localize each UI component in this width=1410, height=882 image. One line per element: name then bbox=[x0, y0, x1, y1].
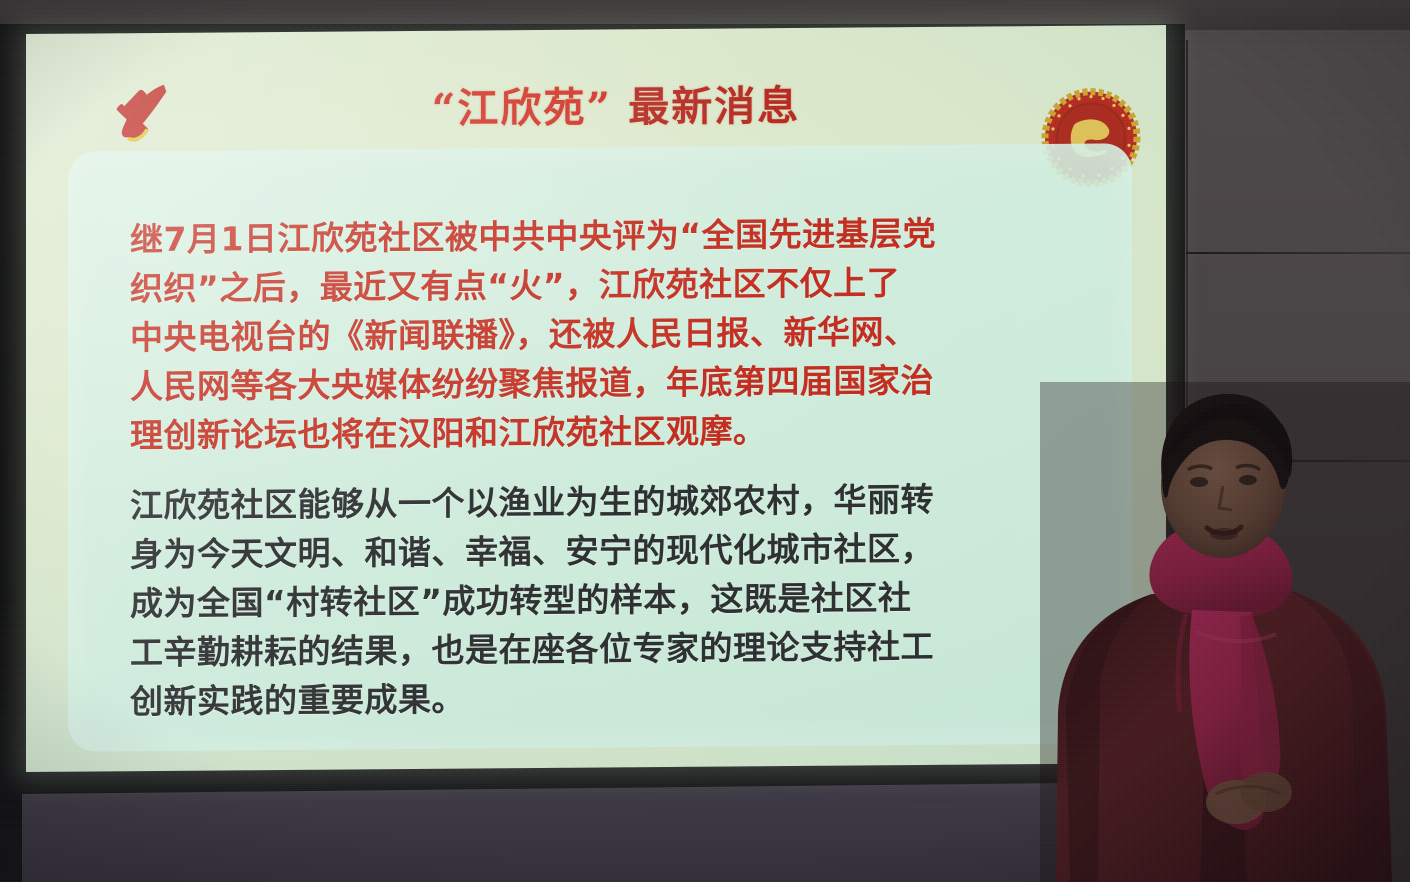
photo-scene: “江欣苑” 最新消息 bbox=[0, 0, 1410, 882]
paragraph-red-line: 中央电视台的《新闻联播》，还被人民日报、新华网、 bbox=[130, 306, 1080, 362]
slide-content-panel: 继7月1日江欣苑社区被中共中央评为“全国先进基层党 织织”之后，最近又有点“火”… bbox=[68, 143, 1132, 751]
paragraph-red-line: 理创新论坛也将在汉阳和江欣苑社区观摩。 bbox=[130, 404, 1080, 460]
paragraph-black-line: 工辛勤耕耘的结果，也是在座各位专家的理论支持社工 bbox=[130, 621, 1080, 677]
slide-title: “江欣苑” 最新消息 bbox=[226, 70, 1006, 136]
paragraph-black: 江欣苑社区能够从一个以渔业为生的城郊农村，华丽转 身为今天文明、和谐、幸福、安宁… bbox=[130, 474, 1080, 726]
presenter-figure bbox=[1040, 382, 1410, 882]
hammer-and-sickle-icon bbox=[108, 77, 186, 152]
wall-seam-horizontal bbox=[1186, 252, 1410, 254]
paragraph-black-line: 身为今天文明、和谐、幸福、安宁的现代化城市社区， bbox=[130, 523, 1080, 579]
paragraph-black-line: 创新实践的重要成果。 bbox=[130, 670, 1080, 726]
paragraph-red-line: 继7月1日江欣苑社区被中共中央评为“全国先进基层党 bbox=[130, 208, 1080, 264]
slide-title-plain: 最新消息 bbox=[628, 82, 800, 131]
paragraph-black-line: 成为全国“村转社区”成功转型的样本，这既是社区社 bbox=[130, 572, 1080, 628]
paragraph-red: 继7月1日江欣苑社区被中共中央评为“全国先进基层党 织织”之后，最近又有点“火”… bbox=[130, 208, 1080, 460]
paragraph-black-line: 江欣苑社区能够从一个以渔业为生的城郊农村，华丽转 bbox=[130, 474, 1080, 530]
presentation-slide: “江欣苑” 最新消息 bbox=[26, 25, 1166, 772]
slide-title-quoted: “江欣苑” bbox=[432, 83, 612, 132]
paragraph-red-line: 织织”之后，最近又有点“火”，江欣苑社区不仅上了 bbox=[130, 257, 1080, 313]
paragraph-red-line: 人民网等各大央媒体纷纷聚焦报道，年底第四届国家治 bbox=[130, 355, 1080, 411]
screen-lower-dark-area bbox=[22, 782, 1172, 882]
